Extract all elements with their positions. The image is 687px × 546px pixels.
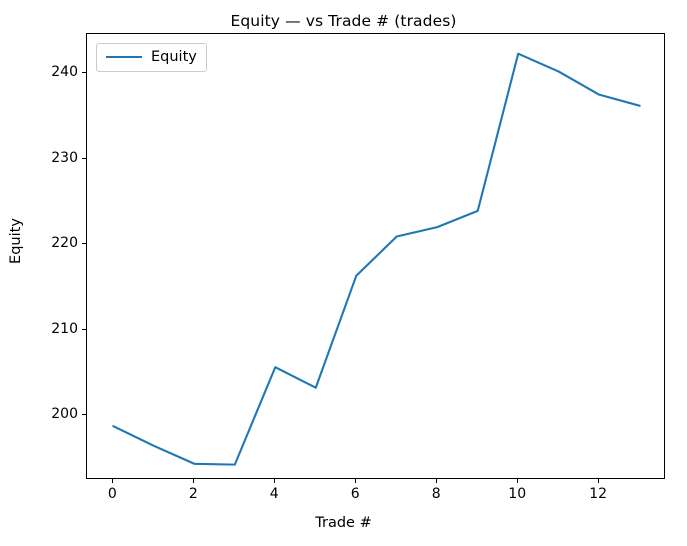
x-axis-tick-label: 0	[90, 486, 134, 502]
x-axis-tick-mark	[517, 479, 518, 483]
legend-label: Equity	[151, 50, 197, 65]
y-axis-tick-label: 210	[34, 321, 78, 337]
x-axis-tick-mark	[436, 479, 437, 483]
legend-box: Equity	[96, 43, 207, 72]
legend-line-swatch	[106, 56, 142, 58]
y-axis-tick-label: 240	[34, 64, 78, 80]
chart-title: Equity — vs Trade # (trades)	[0, 12, 687, 30]
matplotlib-figure: Equity — vs Trade # (trades) Equity 2002…	[0, 0, 687, 546]
x-axis-tick-label: 4	[252, 486, 296, 502]
y-axis-label: Equity	[8, 201, 24, 281]
x-axis-tick-label: 12	[576, 486, 620, 502]
x-axis-tick-mark	[274, 479, 275, 483]
y-axis-tick-label-group: 200210220230240	[30, 33, 78, 479]
x-axis-tick-mark	[598, 479, 599, 483]
x-axis-label: Trade #	[0, 515, 687, 531]
x-axis-tick-label: 10	[495, 486, 539, 502]
x-axis-tick-mark	[193, 479, 194, 483]
x-axis-tick-label: 2	[171, 486, 215, 502]
x-axis-tick-mark	[112, 479, 113, 483]
x-axis-tick-label: 8	[414, 486, 458, 502]
y-axis-tick-label: 220	[34, 235, 78, 251]
x-axis-tick-mark	[355, 479, 356, 483]
x-axis-tick-label-group: 024681012	[0, 486, 687, 508]
equity-line-series	[113, 54, 639, 465]
x-axis-tick-label: 6	[333, 486, 377, 502]
plot-area	[86, 33, 665, 479]
y-axis-tick-label: 200	[34, 406, 78, 422]
y-axis-tick-label: 230	[34, 150, 78, 166]
equity-line-svg	[87, 34, 666, 480]
